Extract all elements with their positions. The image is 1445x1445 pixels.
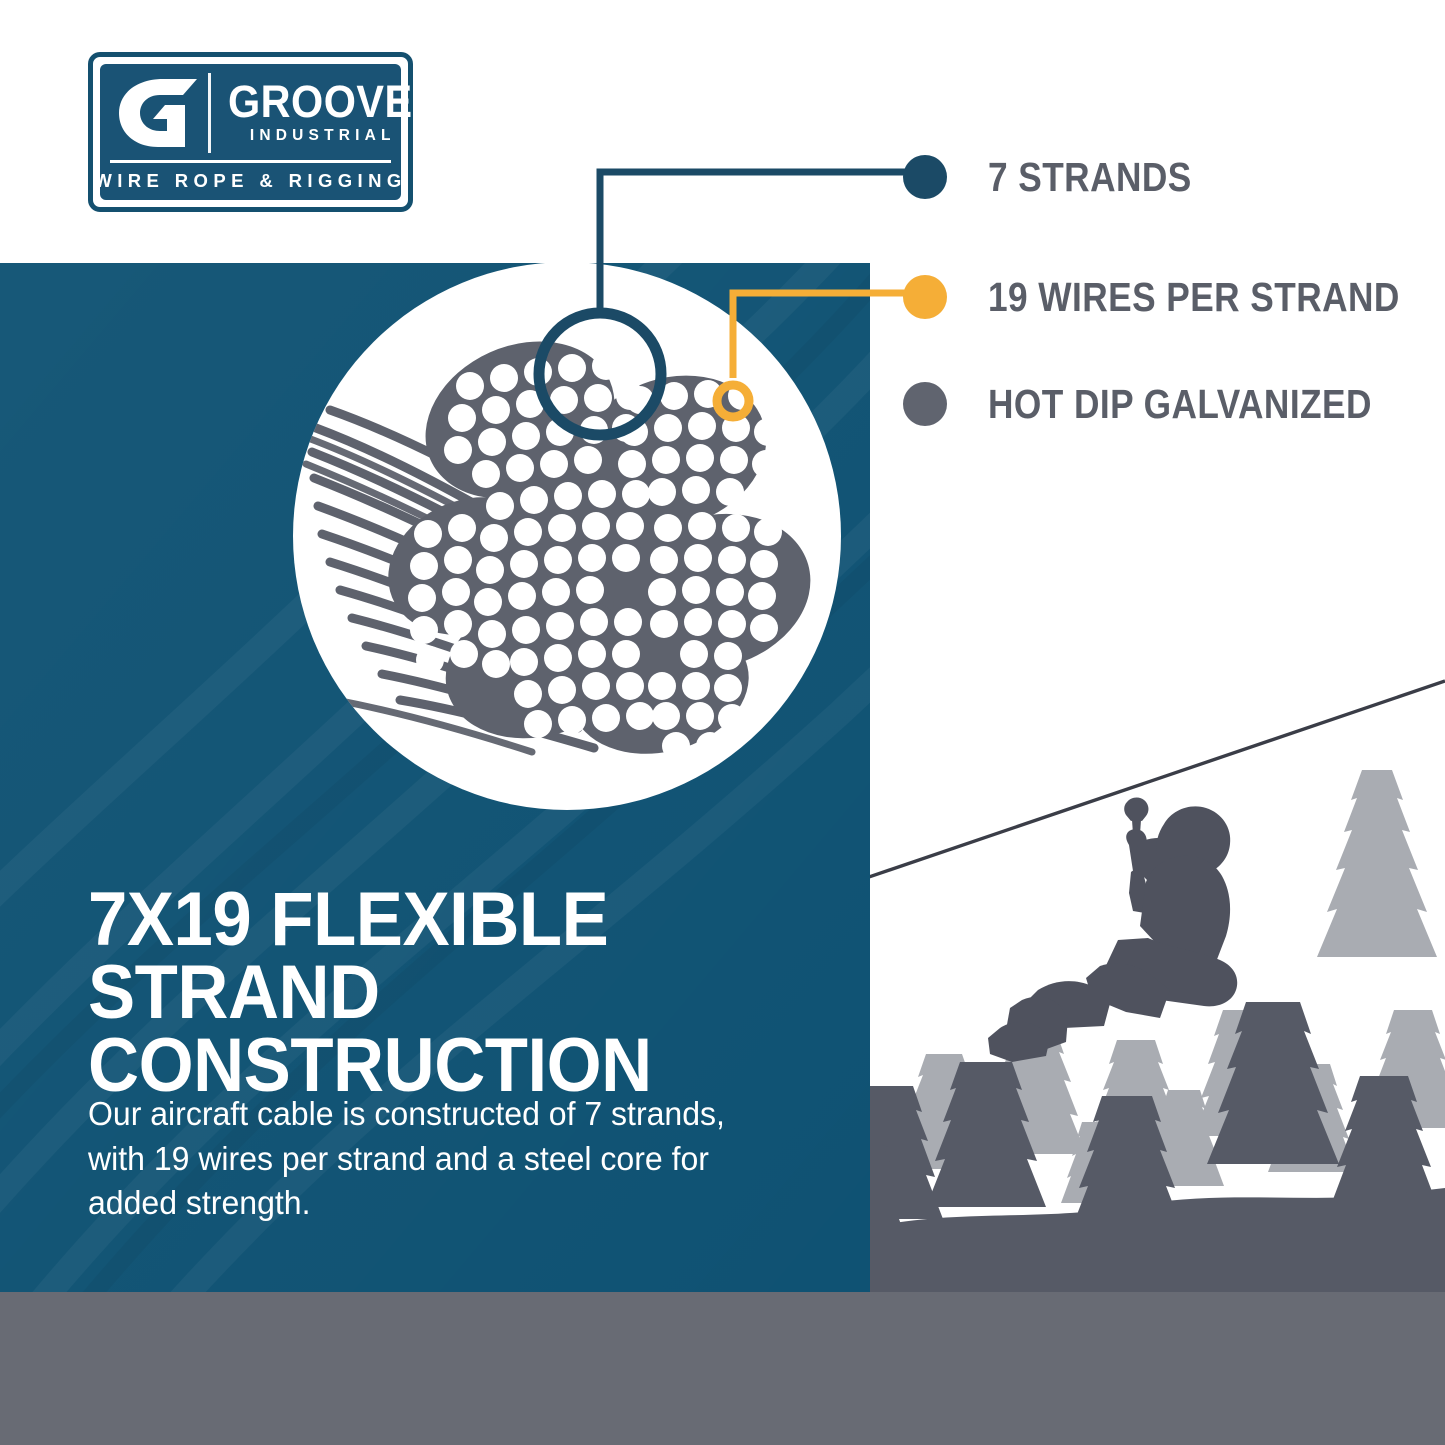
callout-strands[interactable]: 7 STRANDS [903,155,1225,199]
logo-divider [208,73,211,153]
logo-brand-sub: INDUSTRIAL [245,126,396,145]
logo-wordmark: GROOVE INDUSTRIAL [211,69,421,157]
logo-brand-name: GROOVE [228,81,413,122]
logo-top-row: GROOVE INDUSTRIAL [105,69,396,157]
callout-dot-navy-icon [903,155,947,199]
page-title: 7X19 FLEXIBLE STRAND CONSTRUCTION [88,884,795,1103]
bottom-bar [0,1292,1445,1445]
callout-label-wires: 19 WIRES PER STRAND [988,277,1400,318]
zipline-cable [866,681,1445,878]
logo-inner-fill: GROOVE INDUSTRIAL WIRE ROPE & RIGGING [100,64,401,200]
brand-logo[interactable]: GROOVE INDUSTRIAL WIRE ROPE & RIGGING [88,52,413,212]
logo-horizontal-rule [110,160,391,163]
callout-wires[interactable]: 19 WIRES PER STRAND [903,275,1445,319]
callout-galvanized[interactable]: HOT DIP GALVANIZED [903,382,1434,426]
logo-outer-frame: GROOVE INDUSTRIAL WIRE ROPE & RIGGING [88,52,413,212]
infographic-canvas: GROOVE INDUSTRIAL WIRE ROPE & RIGGING 7 … [0,0,1445,1445]
pine-trees-background [898,770,1445,1203]
callout-dot-gray-icon [903,382,947,426]
rider-silhouette [988,798,1237,1062]
page-description: Our aircraft cable is constructed of 7 s… [88,1092,728,1226]
logo-tagline-row: WIRE ROPE & RIGGING [110,168,391,194]
pine-trees-foreground [808,1002,1445,1292]
callout-label-strands: 7 STRANDS [988,157,1192,198]
logo-tagline: WIRE ROPE & RIGGING [94,170,406,192]
callout-dot-orange-icon [903,275,947,319]
illustration-circle-backdrop [293,262,841,810]
g-hexagon-icon [105,69,208,157]
callout-label-galvanized: HOT DIP GALVANIZED [988,384,1372,425]
